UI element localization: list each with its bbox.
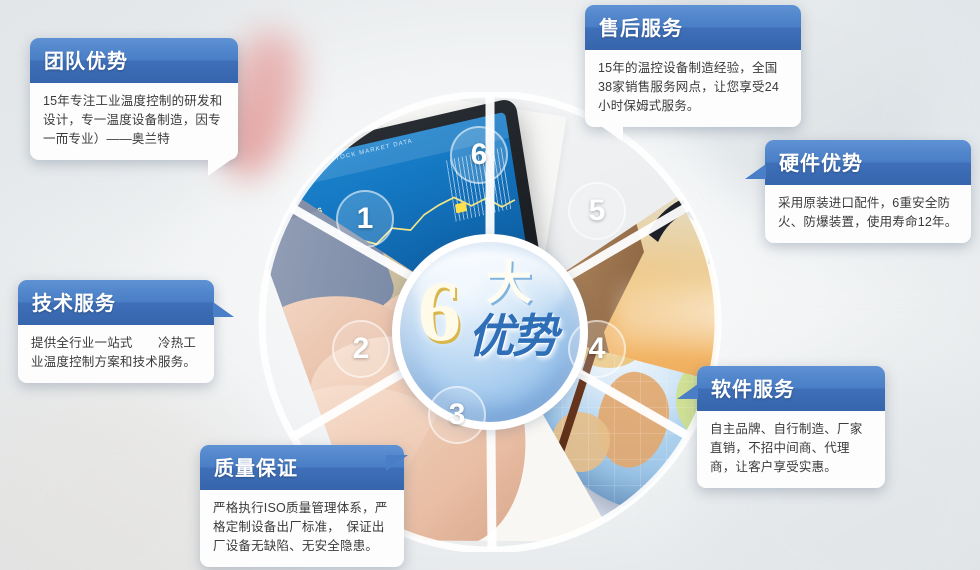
callout-title-quality: 质量保证 <box>200 445 404 490</box>
wheel-number-3[interactable]: 3 <box>428 386 486 444</box>
callout-title-team: 团队优势 <box>30 38 238 83</box>
callout-hardware-advantage[interactable]: 硬件优势 采用原装进口配件，6重安全防火、防爆装置，使用寿命12年。 <box>765 140 971 243</box>
callout-after-sales[interactable]: 售后服务 15年的温控设备制造经验，全国38家销售服务网点，让您享受24小时保姆… <box>585 5 801 127</box>
center-hub[interactable]: 6 大 优势 <box>400 242 580 422</box>
center-da-label: 大 <box>486 260 532 306</box>
callout-tail <box>208 159 232 176</box>
callout-title-software: 软件服务 <box>697 366 885 411</box>
wheel-number-5[interactable]: 5 <box>568 182 626 240</box>
callout-tail <box>601 126 623 142</box>
callout-title-hardware: 硬件优势 <box>765 140 971 185</box>
callout-body-hardware: 采用原装进口配件，6重安全防火、防爆装置，使用寿命12年。 <box>765 185 971 243</box>
callout-quality-guarantee[interactable]: 质量保证 严格执行ISO质量管理体系，严格定制设备出厂标准， 保证出厂设备无缺陷… <box>200 445 404 567</box>
callout-tail <box>677 384 698 399</box>
callout-title-technical: 技术服务 <box>18 280 214 325</box>
center-youshi-label: 优势 <box>468 312 556 362</box>
wheel-number-1[interactable]: 1 <box>336 190 394 248</box>
callout-title-after-sales: 售后服务 <box>585 5 801 50</box>
wheel-number-6[interactable]: 6 <box>450 126 508 184</box>
infographic-canvas: STOCK MARKET DATA INTC 440.86 <box>0 0 980 570</box>
callout-body-quality: 严格执行ISO质量管理体系，严格定制设备出厂标准， 保证出厂设备无缺陷、无安全隐… <box>200 490 404 567</box>
callout-software-service[interactable]: 软件服务 自主品牌、自行制造、厂家直销，不招中间商、代理商，让客户享受实惠。 <box>697 366 885 488</box>
callout-body-team: 15年专注工业温度控制的研发和设计，专一温度设备制造，因专一而专业）——奥兰特 <box>30 83 238 160</box>
callout-tail <box>213 302 234 317</box>
callout-tail <box>745 164 766 179</box>
callout-body-technical: 提供全行业一站式 冷热工业温度控制方案和技术服务。 <box>18 325 214 383</box>
center-number: 6 <box>418 268 461 354</box>
callout-technical-service[interactable]: 技术服务 提供全行业一站式 冷热工业温度控制方案和技术服务。 <box>18 280 214 383</box>
callout-tail <box>386 455 408 471</box>
callout-body-after-sales: 15年的温控设备制造经验，全国38家销售服务网点，让您享受24小时保姆式服务。 <box>585 50 801 127</box>
callout-body-software: 自主品牌、自行制造、厂家直销，不招中间商、代理商，让客户享受实惠。 <box>697 411 885 488</box>
wheel-number-2[interactable]: 2 <box>332 320 390 378</box>
wheel-number-4[interactable]: 4 <box>568 320 626 378</box>
callout-team-advantage[interactable]: 团队优势 15年专注工业温度控制的研发和设计，专一温度设备制造，因专一而专业）—… <box>30 38 238 160</box>
